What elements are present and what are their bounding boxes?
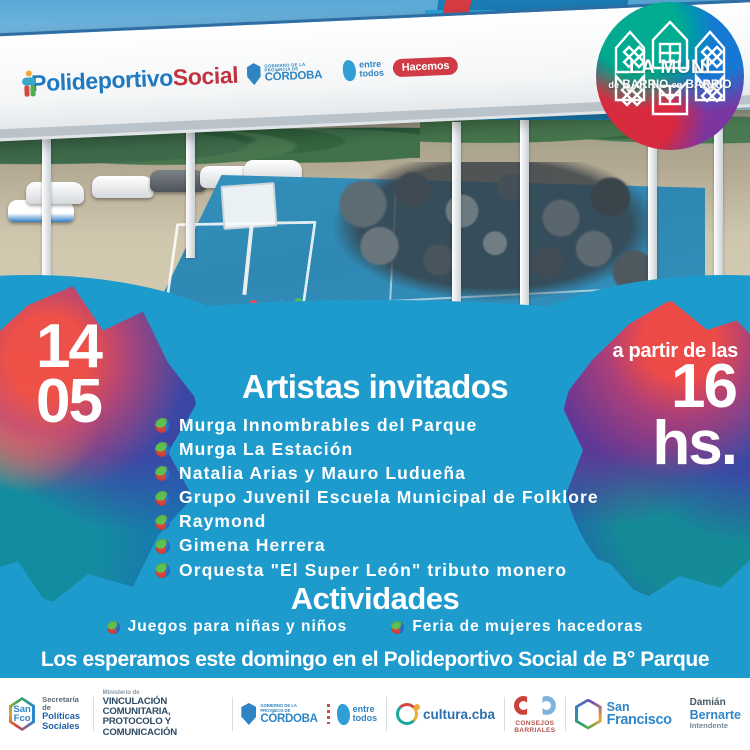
closing-part1: Los esperamos este <box>41 648 241 671</box>
artist-name: Orquesta "El Super León" tributo monero <box>179 562 567 580</box>
badge-en: en <box>672 80 683 90</box>
cordoba-small-text: GOBIERNO DE LA PROVINCIA DE <box>260 703 320 713</box>
bullet-icon <box>155 491 170 506</box>
polideportivo-figure-icon <box>22 71 23 97</box>
cordoba-logo-footer: GOBIERNO DE LA PROVINCIA DE CÓRDOBA <box>241 703 320 725</box>
bullet-icon <box>391 621 404 634</box>
list-item: Juegos para niñas y niños <box>107 618 348 636</box>
list-item: Orquesta "El Super León" tributo monero <box>155 562 635 580</box>
bullet-icon <box>155 418 170 433</box>
list-item: Grupo Juvenil Escuela Municipal de Folkl… <box>155 489 635 507</box>
artist-name: Grupo Juvenil Escuela Municipal de Folkl… <box>179 489 599 507</box>
sanfco-shield-icon: San Fco <box>9 697 35 731</box>
cultura-circle-icon <box>396 703 418 725</box>
canopy-pole <box>186 118 195 258</box>
badge-line1: LA MUNI <box>596 58 744 77</box>
footer-dot-divider <box>327 704 330 724</box>
closing-bold2: Polideportivo Social de B° Parque <box>384 648 709 671</box>
artist-name: Murga Innombrables del Parque <box>179 417 477 435</box>
todos-text: todos <box>359 69 384 79</box>
ministerio-line1: VINCULACIÓN COMUNITARIA, <box>103 697 223 718</box>
cordoba-shield-icon <box>247 63 261 86</box>
ministerio-line2: PROTOCOLO Y COMUNICACIÓN <box>103 717 223 738</box>
list-item: Gimena Herrera <box>155 537 635 555</box>
footer-logo-bar: San Fco Secretaría de Políticas Sociales… <box>0 678 750 750</box>
cordoba-shield-icon <box>241 703 256 725</box>
la-muni-badge: LA MUNI de BARRIO en BARRIO <box>596 2 744 150</box>
sanfco-fco: Fco <box>14 714 31 723</box>
consejos-line2: BARRIALES <box>514 727 556 734</box>
badge-line2: de BARRIO en BARRIO <box>596 79 744 91</box>
bullet-icon <box>155 466 170 481</box>
activity-name: Juegos para niñas y niños <box>128 618 348 636</box>
list-item: Natalia Arias y Mauro Ludueña <box>155 465 635 483</box>
list-item: Feria de mujeres hacedoras <box>391 618 643 636</box>
hacemos-badge: Hacemos <box>392 57 458 78</box>
badge-barrio1: BARRIO <box>622 79 668 91</box>
list-item: Raymond <box>155 513 635 531</box>
artist-name: Murga La Estación <box>179 441 353 459</box>
artists-list: Murga Innombrables del Parque Murga La E… <box>155 417 635 586</box>
sanfran-francisco: Francisco <box>607 713 672 728</box>
cultura-label: cultura.cba <box>423 707 495 722</box>
banner-title: PolideportivoSocial <box>31 61 239 97</box>
bullet-icon <box>107 621 120 634</box>
secretaria-line: Secretaría de <box>42 696 84 712</box>
activities-title: Actividades <box>0 581 750 617</box>
badge-barrio2: BARRIO <box>686 79 732 91</box>
sanfco-label: Secretaría de Políticas Sociales <box>42 696 84 732</box>
cultura-cba-logo: cultura.cba <box>387 693 504 735</box>
artist-name: Gimena Herrera <box>179 537 326 555</box>
activities-list: Juegos para niñas y niños Feria de mujer… <box>0 618 750 636</box>
sanfco-politicas-sociales-logo: San Fco Secretaría de Políticas Sociales <box>0 693 93 735</box>
san-francisco-shield-icon <box>575 699 602 730</box>
banner-title-social: Social <box>172 61 238 90</box>
san-francisco-municipality-logo: San Francisco <box>566 693 681 735</box>
cordoba-province-shape-icon <box>337 704 350 725</box>
consejos-line1: CONSEJOS <box>514 720 556 727</box>
crowd <box>330 162 660 302</box>
cordoba-logo: GOBIERNO DE LA PROVINCIA DE CÓRDOBA <box>247 60 326 85</box>
cordoba-large-text: CÓRDOBA <box>260 713 320 725</box>
sociales-line: Sociales <box>42 722 84 732</box>
entre-todos-logo: entre todos <box>343 58 384 81</box>
ministerio-vinculacion-logo: Ministerio de VINCULACIÓN COMUNITARIA, P… <box>94 693 232 735</box>
bullet-icon <box>155 563 170 578</box>
intendente-block: Damián Bernarte Intendente <box>681 693 750 735</box>
list-item: Murga Innombrables del Parque <box>155 417 635 435</box>
todos-text: todos <box>353 714 378 723</box>
consejos-faces-icon <box>514 694 556 718</box>
artist-name: Raymond <box>179 513 266 531</box>
banner-title-poli: Polideportivo <box>31 64 174 96</box>
badge-de: de <box>608 80 619 90</box>
cordoba-province-shape-icon <box>343 59 357 81</box>
consejos-barriales-logo: CONSEJOS BARRIALES <box>505 693 565 735</box>
badge-label: LA MUNI de BARRIO en BARRIO <box>596 58 744 91</box>
banner-divider <box>334 61 335 81</box>
activity-name: Feria de mujeres hacedoras <box>412 618 643 636</box>
intendente-last-name: Bernarte <box>690 709 741 722</box>
bullet-icon <box>155 515 170 530</box>
cordoba-large-text: CÓRDOBA <box>265 70 326 83</box>
bullet-icon <box>155 442 170 457</box>
artists-title: Artistas invitados <box>0 368 750 406</box>
closing-part2: en el <box>327 648 384 671</box>
cordoba-gobierno-logo: GOBIERNO DE LA PROVINCIA DE CÓRDOBA entr… <box>232 693 386 735</box>
bullet-icon <box>155 539 170 554</box>
intendente-role: Intendente <box>690 722 741 730</box>
event-poster: PolideportivoSocial GOBIERNO DE LA PROVI… <box>0 0 750 750</box>
artist-name: Natalia Arias y Mauro Ludueña <box>179 465 466 483</box>
basketball-backboard <box>221 182 278 230</box>
list-item: Murga La Estación <box>155 441 635 459</box>
entre-todos-logo-footer: entre todos <box>337 704 378 725</box>
closing-line: Los esperamos este domingo en el Polidep… <box>0 648 750 672</box>
closing-bold1: domingo <box>241 648 327 671</box>
canopy-pole <box>42 120 51 300</box>
ministerio-label: Ministerio de VINCULACIÓN COMUNITARIA, P… <box>103 690 223 738</box>
